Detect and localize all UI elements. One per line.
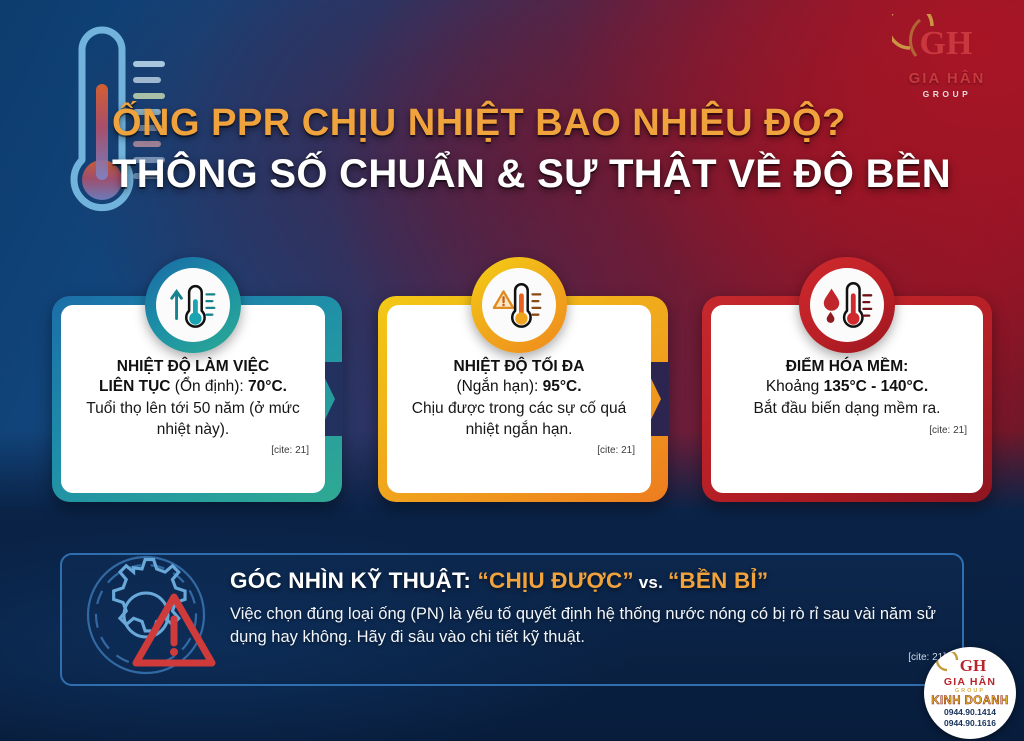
card-subtitle: Khoảng 135°C - 140°C. — [725, 377, 969, 397]
banner-citation: [cite: 21] — [230, 652, 946, 663]
spec-cards-row: NHIỆT ĐỘ LÀM VIỆC LIÊN TỤC (Ổn định): 70… — [0, 296, 1024, 502]
card-icon-badge — [145, 257, 241, 353]
thermometer-up-arrow-icon — [156, 268, 230, 342]
thermometer-warning-icon — [482, 268, 556, 342]
banner-body: Việc chọn đúng loại ống (PN) là yếu tố q… — [230, 603, 946, 649]
card-body: Tuổi thọ lên tới 50 năm (ở mức nhiệt này… — [75, 399, 311, 441]
card-value: 95°C. — [543, 378, 582, 395]
spec-card-working-temperature[interactable]: NHIỆT ĐỘ LÀM VIỆC LIÊN TỤC (Ổn định): 70… — [52, 296, 342, 502]
card-subtitle-regular: (Ngắn hạn): — [456, 378, 542, 395]
gear-warning-icon — [74, 553, 234, 685]
card-value: 135°C - 140°C. — [824, 378, 929, 395]
gh-swirl-logo-icon: GH — [924, 652, 1016, 676]
spec-card-max-temperature[interactable]: NHIỆT ĐỘ TỐI ĐA (Ngắn hạn): 95°C. Chịu đ… — [378, 296, 668, 502]
card-subtitle: LIÊN TỤC (Ổn định): 70°C. — [75, 377, 311, 397]
brand-name-top: GIA HÂN — [892, 70, 1002, 87]
card-icon-badge — [799, 257, 895, 353]
card-subtitle: (Ngắn hạn): 95°C. — [401, 377, 637, 397]
card-title: NHIỆT ĐỘ LÀM VIỆC — [75, 357, 311, 377]
card-body: Chịu được trong các sự cố quá nhiệt ngắn… — [401, 399, 637, 441]
infographic-canvas: ỐNG PPR CHỊU NHIỆT BAO NHIÊU ĐỘ? THÔNG S… — [0, 0, 1024, 741]
svg-text:GH: GH — [960, 656, 986, 675]
card-citation: [cite: 21] — [75, 445, 311, 456]
thermometer-melting-drop-icon — [810, 268, 884, 342]
card-content: NHIỆT ĐỘ LÀM VIỆC LIÊN TỤC (Ổn định): 70… — [61, 305, 325, 493]
brand-logo-top: GH GIA HÂN GROUP — [892, 14, 1002, 99]
card-body: Bắt đầu biến dạng mềm ra. — [725, 399, 969, 420]
card-citation: [cite: 21] — [725, 425, 969, 436]
title-line-1: ỐNG PPR CHỊU NHIỆT BAO NHIÊU ĐỘ? — [112, 104, 942, 144]
card-value: 70°C. — [248, 378, 287, 395]
card-subtitle-regular: (Ổn định): — [170, 378, 248, 395]
brand-name-bottom: GIA HÂN — [924, 676, 1016, 688]
svg-text:GH: GH — [920, 25, 973, 62]
page-title: ỐNG PPR CHỊU NHIỆT BAO NHIÊU ĐỘ? THÔNG S… — [112, 104, 942, 195]
title-line-2: THÔNG SỐ CHUẨN & SỰ THẬT VỀ ĐỘ BỀN — [112, 153, 942, 195]
banner-heading-vs: vs. — [634, 573, 668, 592]
banner-heading-prefix: GÓC NHÌN KỸ THUẬT: — [230, 568, 478, 593]
brand-logo-bottom: GH GIA HÂN GROUP KINH DOANH 0944.90.1414… — [924, 647, 1016, 739]
banner-text-block: GÓC NHÌN KỸ THUẬT: “CHỊU ĐƯỢC” vs. “BỀN … — [230, 568, 946, 663]
card-content: NHIỆT ĐỘ TỐI ĐA (Ngắn hạn): 95°C. Chịu đ… — [387, 305, 651, 493]
banner-heading: GÓC NHÌN KỸ THUẬT: “CHỊU ĐƯỢC” vs. “BỀN … — [230, 568, 946, 594]
brand-suffix-bottom: GROUP — [924, 688, 1016, 694]
banner-heading-quote-1: “CHỊU ĐƯỢC” — [478, 568, 634, 593]
brand-suffix-top: GROUP — [892, 89, 1002, 99]
brand-phone-1: 0944.90.1414 — [924, 707, 1016, 718]
banner-heading-quote-2: “BỀN BỈ” — [668, 568, 768, 593]
spec-card-softening-point[interactable]: ĐIỂM HÓA MỀM: Khoảng 135°C - 140°C. Bắt … — [702, 296, 992, 502]
card-citation: [cite: 21] — [401, 445, 637, 456]
brand-department: KINH DOANH — [924, 695, 1016, 707]
technical-note-banner: GÓC NHÌN KỸ THUẬT: “CHỊU ĐƯỢC” vs. “BỀN … — [60, 553, 964, 686]
card-title: ĐIỂM HÓA MỀM: — [725, 357, 969, 377]
card-title: NHIỆT ĐỘ TỐI ĐA — [401, 357, 637, 377]
card-subtitle-strong: LIÊN TỤC — [99, 378, 170, 395]
card-icon-badge — [471, 257, 567, 353]
card-content: ĐIỂM HÓA MỀM: Khoảng 135°C - 140°C. Bắt … — [711, 305, 983, 493]
gh-swirl-logo-icon: GH — [892, 14, 1002, 70]
card-subtitle-regular: Khoảng — [766, 378, 824, 395]
